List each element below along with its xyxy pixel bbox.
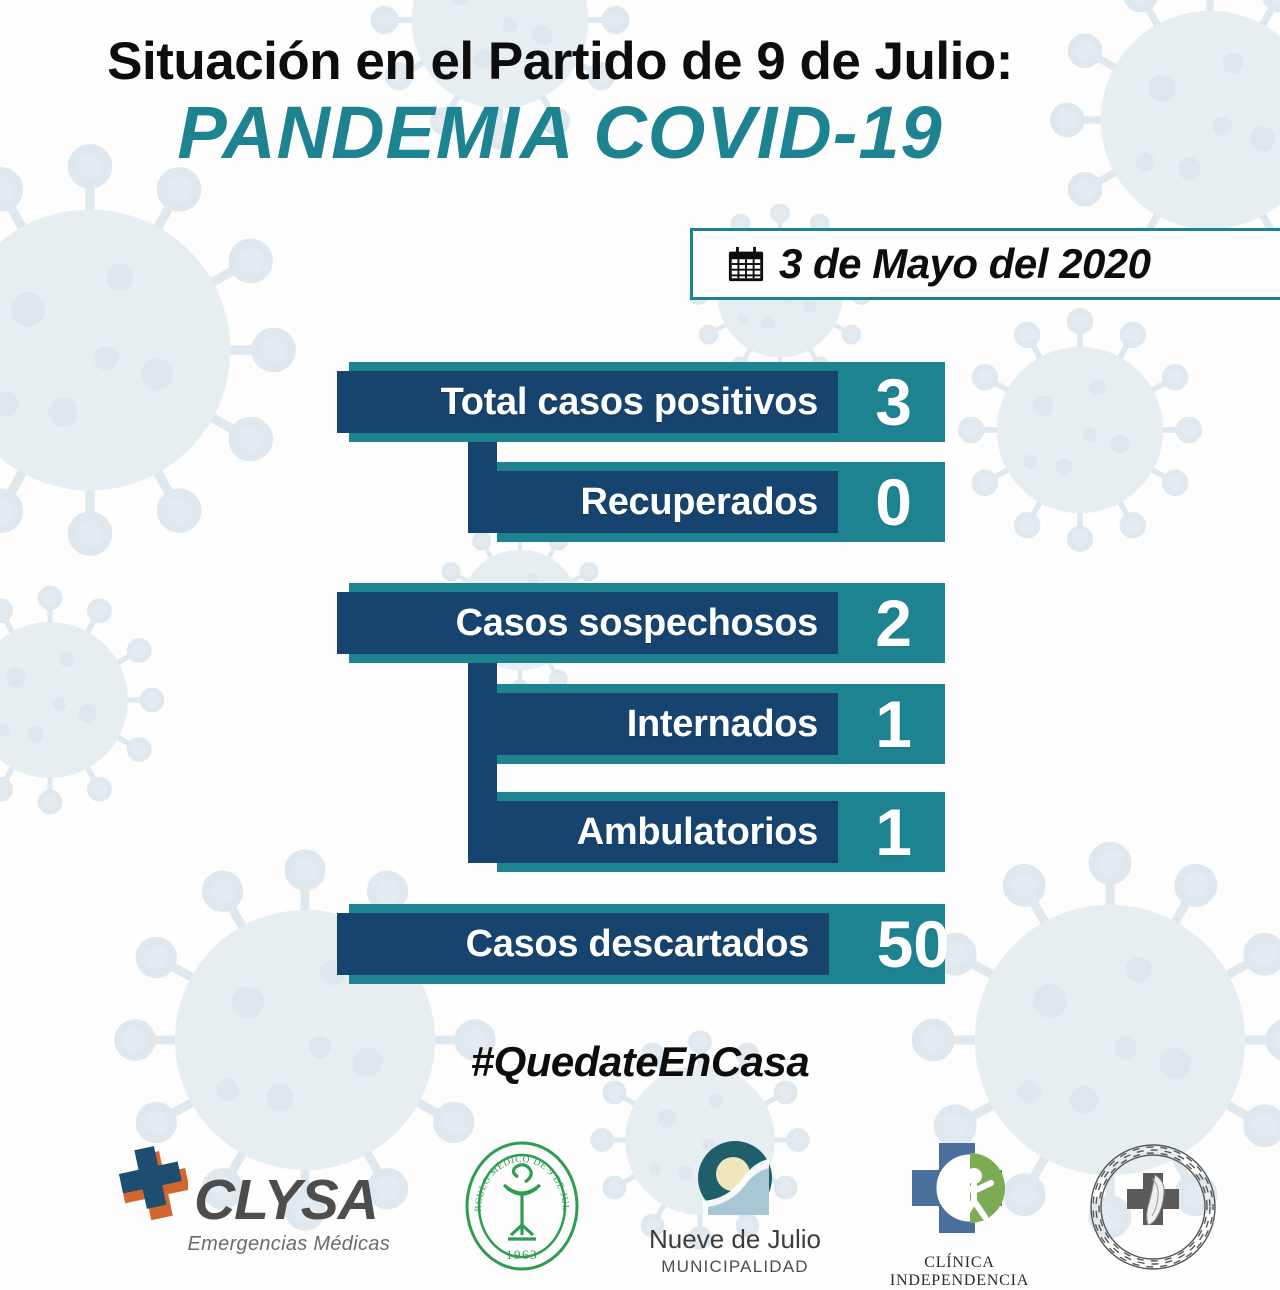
hashtag-text: #QuedateEnCasa: [0, 1038, 1280, 1086]
stat-bar-internados: Internados 1: [497, 684, 945, 764]
stat-value: 1: [875, 799, 912, 865]
municipalidad-emblem-icon: [620, 1141, 850, 1215]
stat-bar-casos-descartados: Casos descartados 50: [349, 904, 945, 984]
municipalidad-logo: Nueve de Julio MUNICIPALIDAD: [620, 1141, 850, 1277]
stat-bar-total-casos-positivos: Total casos positivos 3: [349, 362, 945, 442]
circulo-medico-year: 1963: [506, 1247, 538, 1262]
stat-value: 50: [877, 911, 950, 977]
stat-label: Casos descartados: [466, 925, 809, 963]
stats-panel: Total casos positivos 3 Recuperados 0 Ca…: [0, 0, 1280, 1280]
stat-bar-casos-sospechosos: Casos sospechosos 2: [349, 583, 945, 663]
clysa-logo: CLYSA Emergencias Médicas: [100, 1143, 390, 1256]
stat-label: Total casos positivos: [441, 383, 818, 421]
braided-seal-icon: [1068, 1137, 1238, 1277]
clinica-cross-icon: [862, 1139, 1057, 1247]
circulo-medico-logo: CIRCULO MEDICO DE 9 DE JULIO 1963: [463, 1139, 581, 1278]
logo-strip: CLYSA Emergencias Médicas CIRCULO MEDICO…: [0, 1135, 1280, 1280]
stat-value: 3: [875, 369, 912, 435]
stat-value: 2: [875, 590, 912, 656]
clinica-independencia-logo: CLÍNICA INDEPENDENCIA: [862, 1139, 1057, 1290]
stat-value: 0: [875, 469, 912, 535]
clysa-wordmark: CLYSA: [194, 1172, 378, 1229]
stat-label: Recuperados: [581, 483, 818, 521]
municipalidad-subtitle: MUNICIPALIDAD: [620, 1257, 850, 1277]
circulo-medico-seal-icon: CIRCULO MEDICO DE 9 DE JULIO 1963: [463, 1139, 581, 1273]
stat-bar-ambulatorios: Ambulatorios 1: [497, 792, 945, 872]
stat-value: 1: [875, 691, 912, 757]
stat-bar-recuperados: Recuperados 0: [497, 462, 945, 542]
clysa-tagline: Emergencias Médicas: [100, 1233, 390, 1256]
stat-label: Casos sospechosos: [456, 604, 818, 642]
stat-label: Internados: [627, 705, 818, 743]
stat-label: Ambulatorios: [577, 813, 818, 851]
clysa-cross-icon: [100, 1143, 188, 1229]
municipalidad-name: Nueve de Julio: [620, 1226, 850, 1252]
puesto-seal-logo: [1068, 1137, 1238, 1282]
clinica-wordmark: CLÍNICA INDEPENDENCIA: [862, 1254, 1057, 1290]
